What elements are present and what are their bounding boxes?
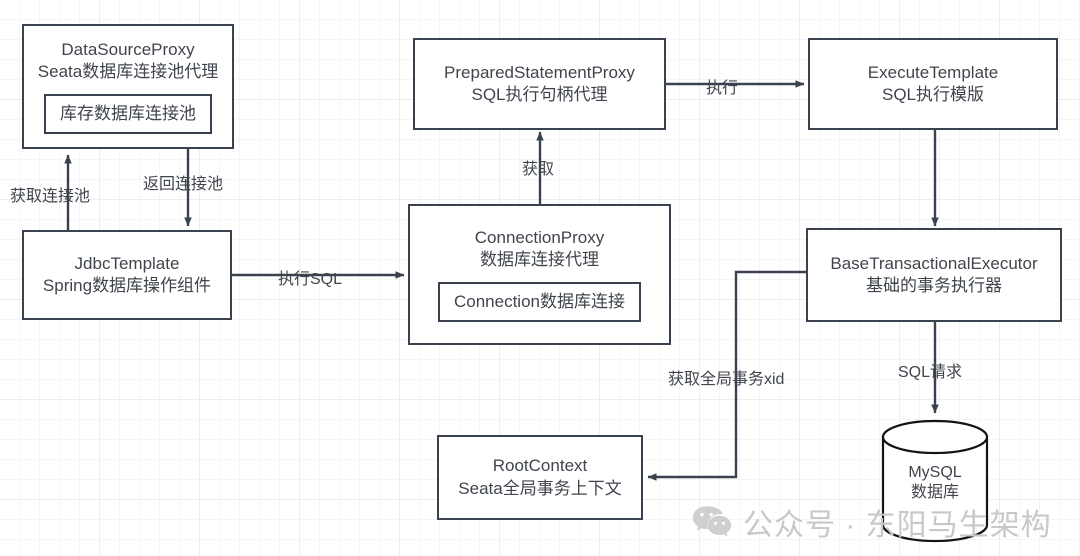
node-connection-proxy-subtitle: 数据库连接代理 <box>480 249 599 271</box>
node-jdbc-template-title: JdbcTemplate <box>75 253 180 275</box>
node-root-context[interactable]: RootContext Seata全局事务上下文 <box>437 435 643 520</box>
edge-label-execute: 执行 <box>706 74 738 98</box>
node-prepared-statement-proxy-subtitle: SQL执行句柄代理 <box>471 84 607 106</box>
node-datasource-proxy-inner-pool[interactable]: 库存数据库连接池 <box>44 94 212 134</box>
node-mysql-database[interactable]: MySQL 数据库 <box>885 463 985 503</box>
node-root-context-title: RootContext <box>493 455 588 477</box>
node-root-context-subtitle: Seata全局事务上下文 <box>458 478 621 500</box>
edge-label-get-pool: 获取连接池 <box>10 182 90 206</box>
diagram-canvas: DataSourceProxy Seata数据库连接池代理 库存数据库连接池 J… <box>0 0 1080 556</box>
node-connection-proxy-title: ConnectionProxy <box>475 227 604 249</box>
node-connection-proxy[interactable]: ConnectionProxy 数据库连接代理 Connection数据库连接 <box>408 204 671 345</box>
node-base-transactional-executor-title: BaseTransactionalExecutor <box>830 253 1037 275</box>
node-execute-template[interactable]: ExecuteTemplate SQL执行模版 <box>808 38 1058 130</box>
node-execute-template-subtitle: SQL执行模版 <box>882 84 984 106</box>
node-prepared-statement-proxy[interactable]: PreparedStatementProxy SQL执行句柄代理 <box>413 38 666 130</box>
node-connection-proxy-inner-connection[interactable]: Connection数据库连接 <box>438 282 641 322</box>
watermark-text: 公众号 · 东阳马生架构 <box>743 500 1052 544</box>
edge-label-return-pool: 返回连接池 <box>143 170 223 194</box>
node-prepared-statement-proxy-title: PreparedStatementProxy <box>444 62 635 84</box>
edge-label-execute-sql: 执行SQL <box>278 265 342 289</box>
node-base-transactional-executor[interactable]: BaseTransactionalExecutor 基础的事务执行器 <box>806 228 1062 322</box>
watermark: 公众号 · 东阳马生架构 <box>692 500 1052 544</box>
node-execute-template-title: ExecuteTemplate <box>868 62 998 84</box>
node-datasource-proxy-title: DataSourceProxy <box>61 39 194 61</box>
node-datasource-proxy[interactable]: DataSourceProxy Seata数据库连接池代理 库存数据库连接池 <box>22 24 234 149</box>
edge-label-get-global-xid: 获取全局事务xid <box>668 365 784 389</box>
edge-label-acquire: 获取 <box>522 155 554 179</box>
node-mysql-database-title: MySQL <box>908 463 961 483</box>
edge-label-sql-request: SQL请求 <box>898 358 962 382</box>
node-jdbc-template[interactable]: JdbcTemplate Spring数据库操作组件 <box>22 230 232 320</box>
wechat-icon <box>692 505 732 539</box>
node-datasource-proxy-subtitle: Seata数据库连接池代理 <box>38 61 218 83</box>
node-base-transactional-executor-subtitle: 基础的事务执行器 <box>866 275 1002 297</box>
node-jdbc-template-subtitle: Spring数据库操作组件 <box>43 275 211 297</box>
